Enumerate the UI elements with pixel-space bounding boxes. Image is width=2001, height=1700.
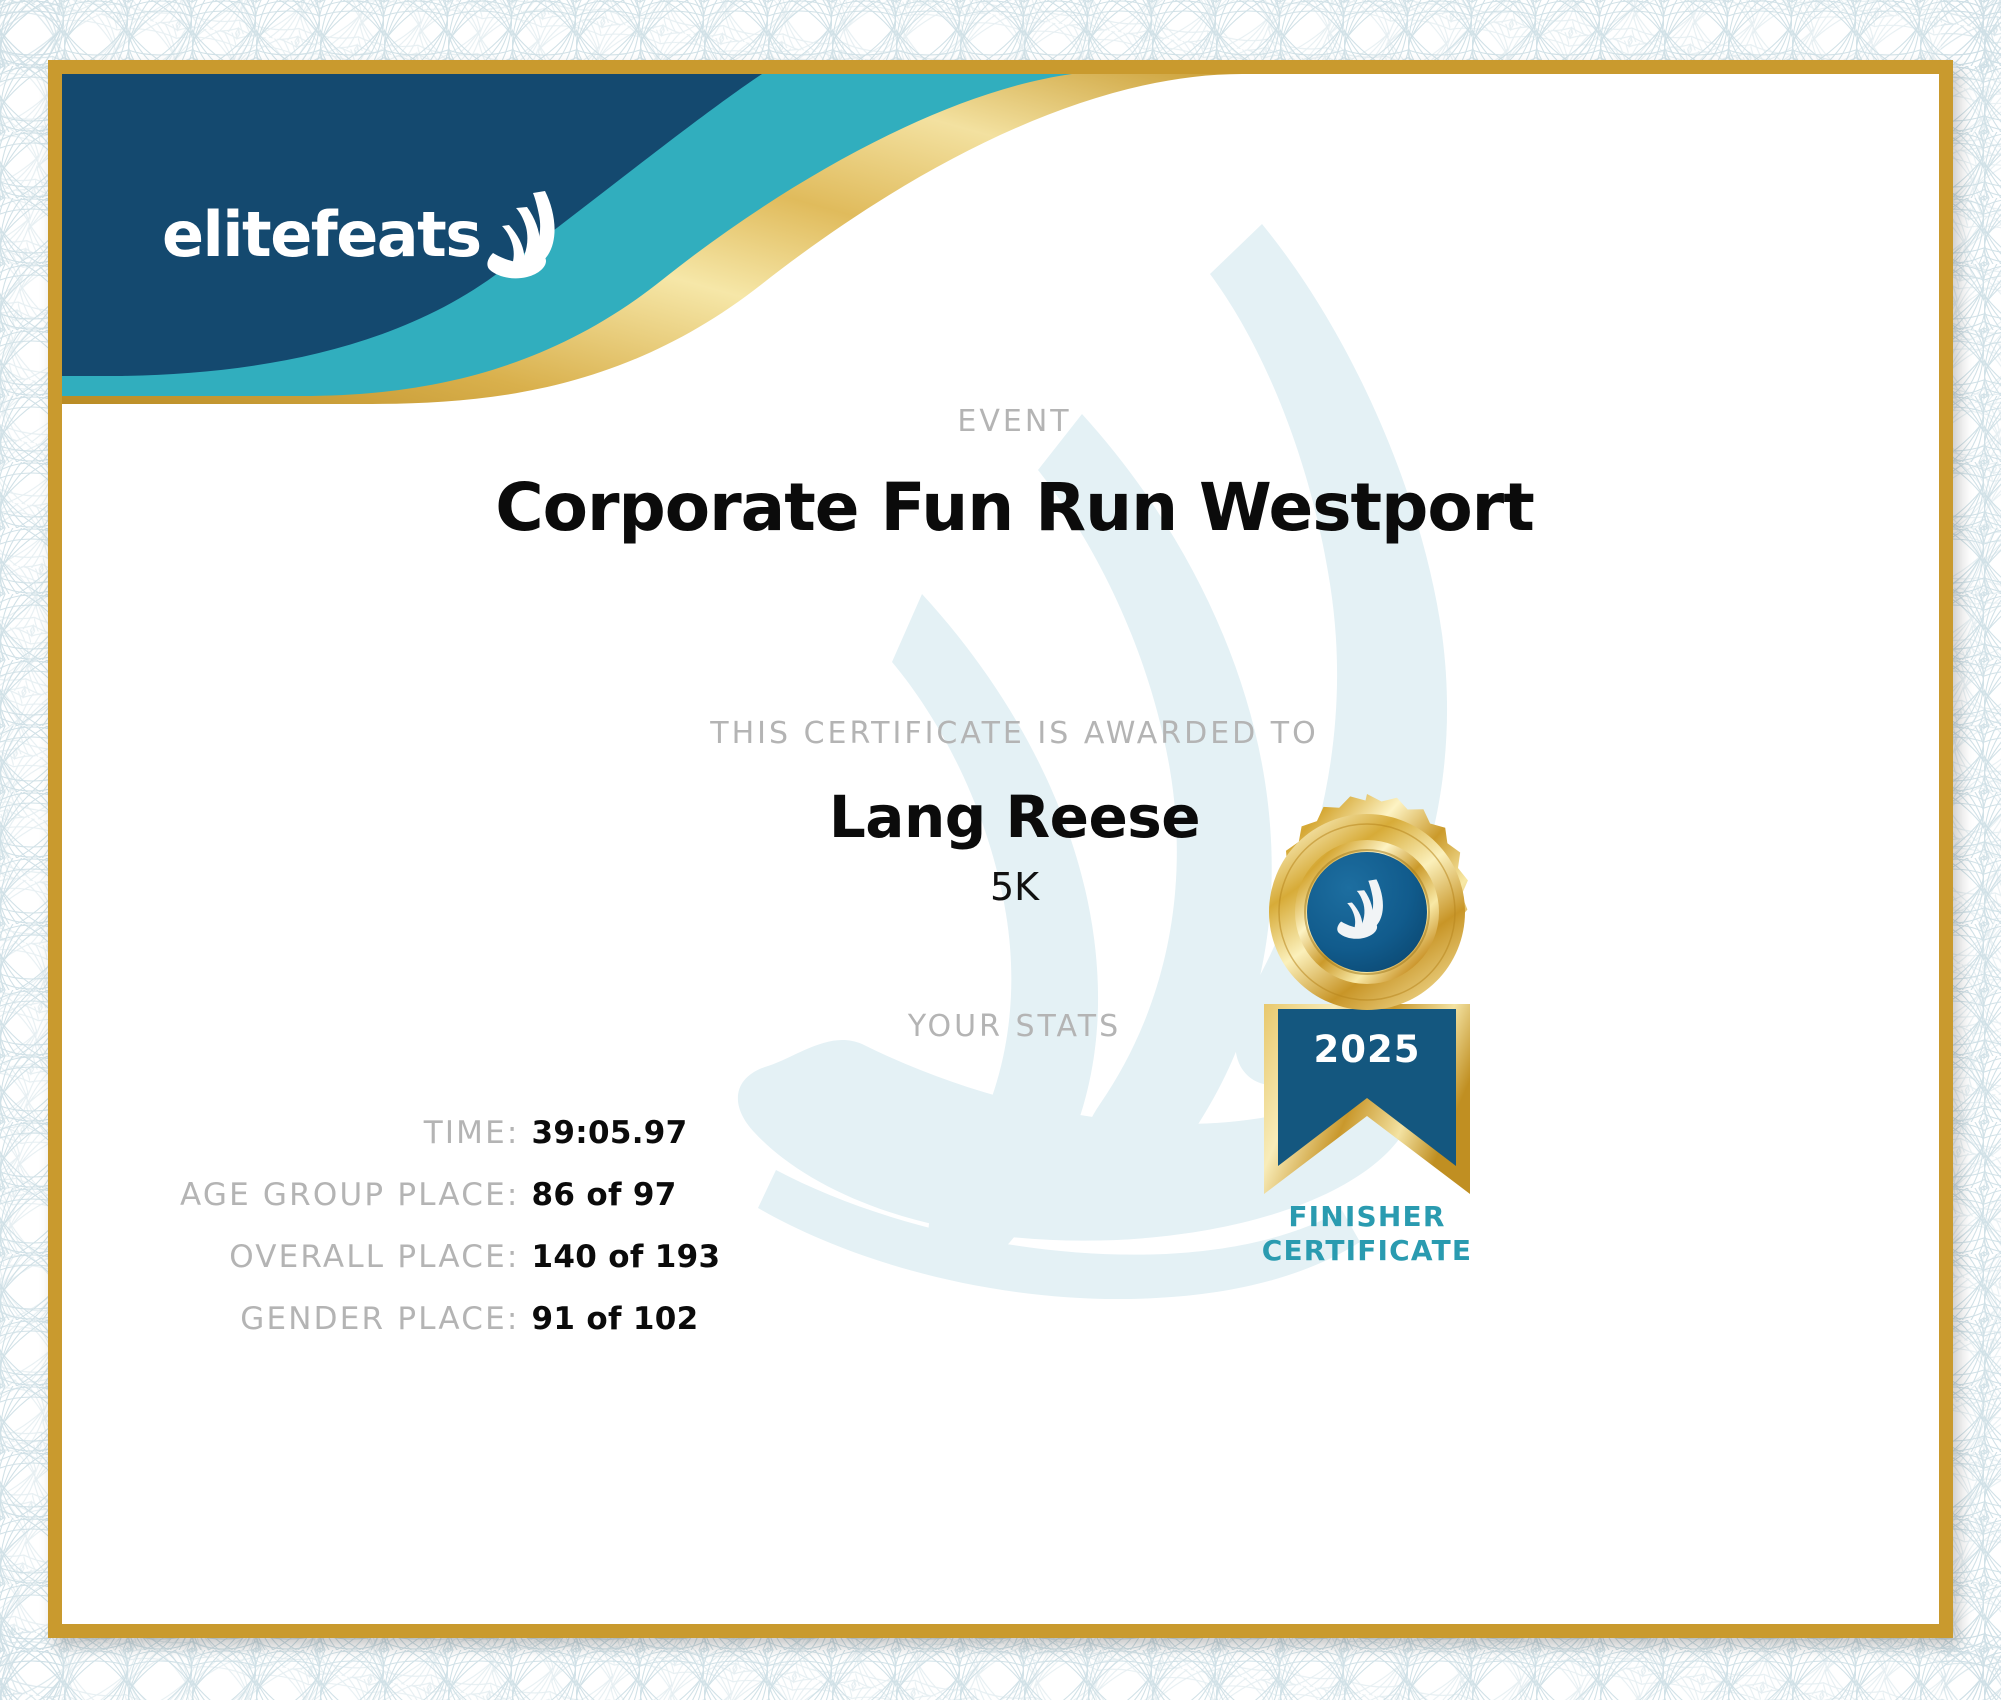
stats-table: TIME: 39:05.97 AGE GROUP PLACE: 86 of 97… xyxy=(180,1102,720,1350)
winged-foot-icon xyxy=(487,189,565,281)
stat-label-overall-place: OVERALL PLACE: xyxy=(180,1226,532,1288)
stat-label-gender-place: GENDER PLACE: xyxy=(180,1288,532,1350)
your-stats-label: YOUR STATS xyxy=(62,1009,1939,1044)
table-row: TIME: 39:05.97 xyxy=(180,1102,720,1164)
brand-wordmark: elitefeats xyxy=(162,204,481,266)
gold-border-frame: elitefeats EVENT Corporate Fun Run Westp… xyxy=(48,60,1953,1638)
certificate-page: elitefeats EVENT Corporate Fun Run Westp… xyxy=(0,0,2001,1700)
stat-value-overall-place: 140 of 193 xyxy=(532,1226,721,1288)
table-row: OVERALL PLACE: 140 of 193 xyxy=(180,1226,720,1288)
finisher-medal-badge: 2025 xyxy=(1202,794,1532,1264)
stat-label-age-group-place: AGE GROUP PLACE: xyxy=(180,1164,532,1226)
medal-ribbon-icon: 2025 xyxy=(1202,794,1532,1204)
stat-value-time: 39:05.97 xyxy=(532,1102,721,1164)
event-title: Corporate Fun Run Westport xyxy=(62,469,1939,546)
stat-value-age-group-place: 86 of 97 xyxy=(532,1164,721,1226)
event-label: EVENT xyxy=(62,404,1939,439)
awarded-to-label: THIS CERTIFICATE IS AWARDED TO xyxy=(62,716,1939,751)
finisher-caption-line1: FINISHER xyxy=(1202,1200,1532,1234)
certificate-content: EVENT Corporate Fun Run Westport THIS CE… xyxy=(62,404,1939,1350)
stat-value-gender-place: 91 of 102 xyxy=(532,1288,721,1350)
finisher-caption: FINISHER CERTIFICATE xyxy=(1202,1200,1532,1268)
table-row: AGE GROUP PLACE: 86 of 97 xyxy=(180,1164,720,1226)
recipient-name: Lang Reese xyxy=(62,783,1939,851)
stat-label-time: TIME: xyxy=(180,1102,532,1164)
brand-logo: elitefeats xyxy=(162,189,565,281)
event-distance: 5K xyxy=(62,865,1939,909)
certificate-body: elitefeats EVENT Corporate Fun Run Westp… xyxy=(62,74,1939,1624)
finisher-caption-line2: CERTIFICATE xyxy=(1202,1234,1532,1268)
table-row: GENDER PLACE: 91 of 102 xyxy=(180,1288,720,1350)
badge-year: 2025 xyxy=(1314,1028,1421,1071)
